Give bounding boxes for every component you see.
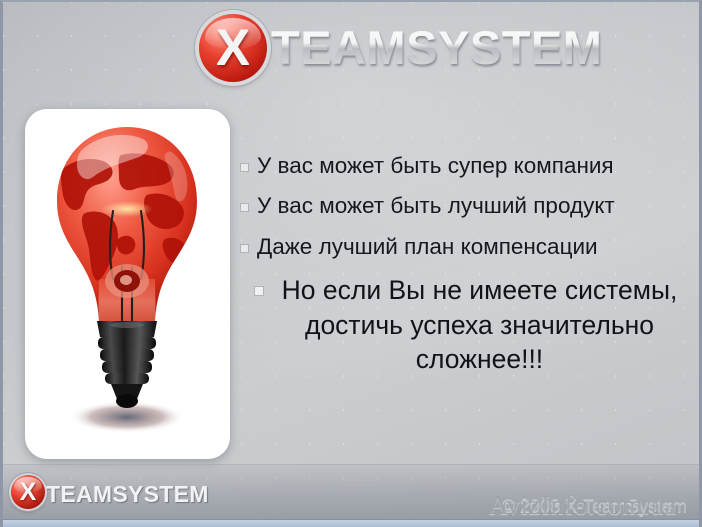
- slide-footer: X TEAMSYSTEM © 2008 X-TeamSystem AvizInf…: [3, 464, 699, 527]
- bullet-list: У вас может быть супер компания У вас мо…: [241, 152, 693, 377]
- image-panel: [25, 109, 230, 459]
- lightbulb-globe-icon: [25, 109, 230, 459]
- x-badge-icon: X: [11, 475, 45, 509]
- header-logo: X: [199, 14, 267, 82]
- sub-bullet-block: Но если Вы не имеете системы, достичь ус…: [241, 273, 693, 376]
- square-bullet-icon: [255, 287, 263, 295]
- list-item-label: У вас может быть лучший продукт: [257, 192, 615, 219]
- slide-header: X TEAMSYSTEM: [3, 2, 699, 94]
- sub-list-item: Но если Вы не имеете системы, достичь ус…: [255, 273, 693, 376]
- logo-letter: X: [199, 14, 267, 82]
- list-item-label: У вас может быть супер компания: [257, 152, 614, 179]
- page-title: TEAMSYSTEM: [271, 20, 602, 75]
- list-item: У вас может быть лучший продукт: [241, 192, 693, 219]
- list-item: Даже лучший план компенсации: [241, 233, 693, 260]
- list-item-label: Даже лучший план компенсации: [257, 233, 598, 260]
- footer-logo: X: [11, 475, 45, 509]
- sub-list-item-label: Но если Вы не имеете системы, достичь ус…: [266, 273, 693, 376]
- square-bullet-icon: [241, 164, 248, 171]
- footer-logo-letter: X: [11, 475, 45, 509]
- x-badge-icon: X: [199, 14, 267, 82]
- footer-accent-bar: [3, 519, 699, 527]
- list-item: У вас может быть супер компания: [241, 152, 693, 179]
- square-bullet-icon: [241, 245, 248, 252]
- footer-title: TEAMSYSTEM: [46, 481, 209, 508]
- square-bullet-icon: [241, 204, 248, 211]
- presentation-slide: X TEAMSYSTEM: [0, 0, 702, 527]
- watermark-text: AvizInfo.com.ua: [489, 490, 677, 521]
